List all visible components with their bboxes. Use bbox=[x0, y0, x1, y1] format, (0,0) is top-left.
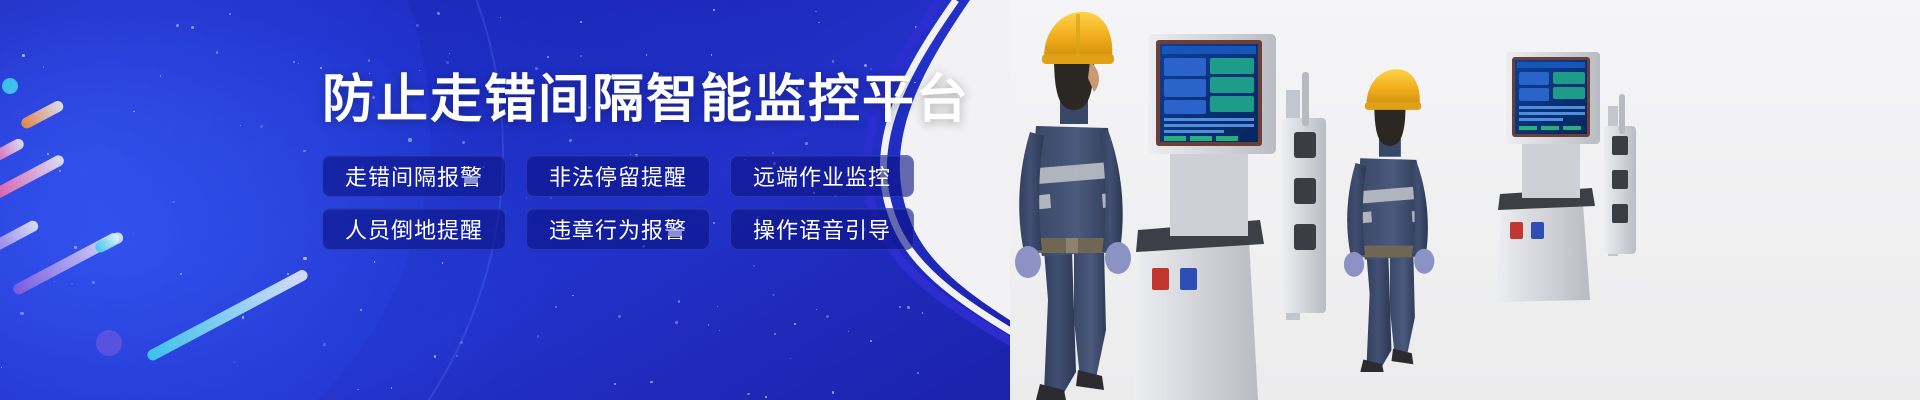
worker-left bbox=[1015, 12, 1131, 400]
tag-pill[interactable]: 远端作业监控 bbox=[730, 155, 914, 197]
right-photo-area bbox=[1010, 0, 1920, 400]
tag-pill[interactable]: 走错间隔报警 bbox=[322, 155, 506, 197]
kiosk-scene bbox=[1010, 0, 1920, 400]
indicator-red bbox=[1152, 268, 1169, 290]
kiosk-button[interactable] bbox=[1294, 132, 1316, 158]
tag-pill[interactable]: 非法停留提醒 bbox=[526, 155, 710, 197]
worker-right bbox=[1344, 69, 1434, 372]
kiosk-button[interactable] bbox=[1612, 136, 1628, 155]
indicator-blue bbox=[1531, 222, 1544, 239]
banner-title: 防止走错间隔智能监控平台 bbox=[322, 74, 970, 126]
kiosk-small bbox=[1496, 52, 1636, 302]
kiosk-button[interactable] bbox=[1294, 178, 1316, 204]
kiosk-button[interactable] bbox=[1612, 204, 1628, 223]
tag-pill[interactable]: 操作语音引导 bbox=[730, 208, 914, 250]
kiosk-button[interactable] bbox=[1294, 224, 1316, 250]
kiosk-large bbox=[1134, 34, 1326, 400]
banner-content: 防止走错间隔智能监控平台 走错间隔报警 非法停留提醒 远端作业监控 人员倒地提醒… bbox=[0, 0, 1010, 400]
promo-banner: 防止走错间隔智能监控平台 走错间隔报警 非法停留提醒 远端作业监控 人员倒地提醒… bbox=[0, 0, 1920, 400]
tag-row-1: 走错间隔报警 非法停留提醒 远端作业监控 bbox=[322, 155, 914, 197]
indicator-red bbox=[1510, 222, 1523, 239]
tag-pill[interactable]: 人员倒地提醒 bbox=[322, 208, 506, 250]
tag-row-2: 人员倒地提醒 违章行为报警 操作语音引导 bbox=[322, 208, 914, 250]
tag-pill[interactable]: 违章行为报警 bbox=[526, 208, 710, 250]
indicator-blue bbox=[1180, 268, 1197, 290]
kiosk-button[interactable] bbox=[1612, 170, 1628, 189]
